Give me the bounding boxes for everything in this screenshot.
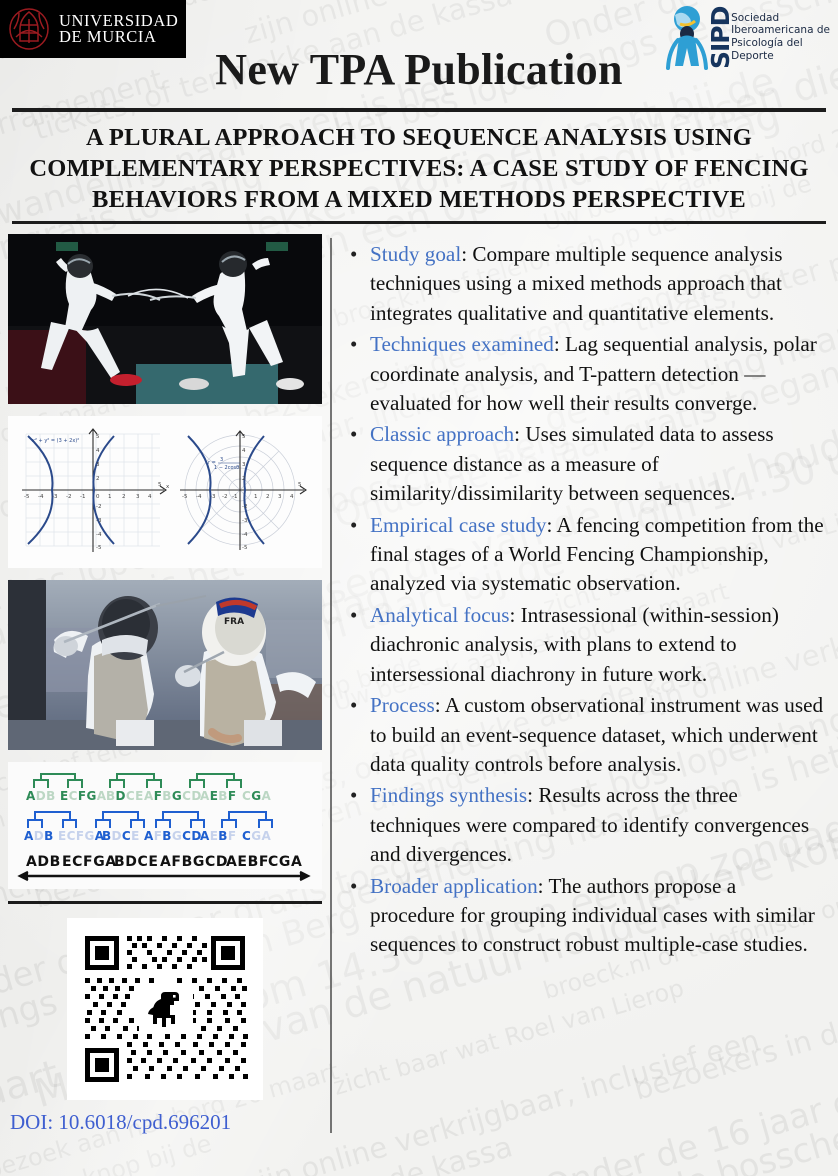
svg-text:1 − 2cosθ: 1 − 2cosθ bbox=[214, 465, 239, 471]
tpattern-diagram: ADB ECFGA BDCE AFBGCD AEBF CGA bbox=[8, 762, 322, 889]
svg-text:-1: -1 bbox=[80, 494, 85, 500]
universidad-logo-text: UNIVERSIDAD DE MURCIA bbox=[59, 13, 178, 46]
key-point-lead: Findings synthesis bbox=[370, 783, 527, 807]
svg-text:AEBF: AEBF bbox=[200, 829, 236, 843]
key-point-item: Findings synthesis: Results across the t… bbox=[348, 781, 826, 869]
svg-text:2: 2 bbox=[242, 476, 246, 482]
svg-text:-3: -3 bbox=[242, 518, 248, 524]
svg-text:4: 4 bbox=[96, 448, 100, 454]
qr-code[interactable] bbox=[67, 918, 263, 1100]
svg-text:AEBF: AEBF bbox=[200, 789, 236, 803]
svg-text:3: 3 bbox=[242, 462, 246, 468]
svg-text:-5: -5 bbox=[96, 545, 102, 551]
svg-text:2: 2 bbox=[96, 476, 100, 482]
svg-text:3: 3 bbox=[220, 457, 223, 463]
svg-text:3: 3 bbox=[136, 494, 140, 500]
key-point-text: : A custom observational instrument was … bbox=[370, 693, 823, 776]
title-rule-bottom bbox=[12, 221, 826, 224]
svg-text:4: 4 bbox=[290, 494, 294, 500]
svg-text:1: 1 bbox=[254, 494, 258, 500]
doi-link[interactable]: DOI: 10.6018/cpd.696201 bbox=[10, 1110, 330, 1135]
key-points-list: Study goal: Compare multiple sequence an… bbox=[348, 240, 826, 960]
key-point-item: Broader application: The authors propose… bbox=[348, 872, 826, 960]
dinosaur-icon bbox=[139, 986, 193, 1032]
svg-text:-5: -5 bbox=[242, 545, 248, 551]
column-divider bbox=[330, 238, 332, 1133]
svg-text:ADB: ADB bbox=[26, 789, 56, 803]
publication-title: A PLURAL APPROACH TO SEQUENCE ANALYSIS U… bbox=[22, 122, 816, 215]
svg-text:5: 5 bbox=[242, 434, 246, 440]
svg-text:CGA: CGA bbox=[242, 829, 271, 843]
svg-text:-3: -3 bbox=[210, 494, 216, 500]
svg-text:3: 3 bbox=[278, 494, 282, 500]
svg-text:4: 4 bbox=[148, 494, 152, 500]
svg-text:2: 2 bbox=[122, 494, 126, 500]
key-point-item: Process: A custom observational instrume… bbox=[348, 691, 826, 779]
svg-text:-5: -5 bbox=[24, 494, 30, 500]
key-point-lead: Process bbox=[370, 693, 435, 717]
svg-text:-1: -1 bbox=[232, 494, 237, 500]
key-point-item: Study goal: Compare multiple sequence an… bbox=[348, 240, 826, 328]
key-point-lead: Study goal bbox=[370, 242, 461, 266]
title-rule-top bbox=[12, 108, 826, 112]
key-point-item: Empirical case study: A fencing competit… bbox=[348, 511, 826, 599]
svg-text:-3: -3 bbox=[96, 518, 102, 524]
key-point-lead: Empirical case study bbox=[370, 513, 547, 537]
svg-text:5: 5 bbox=[96, 434, 100, 440]
poster-page: UNIVERSIDAD DE MURCIA SIPD Sociedad bbox=[0, 0, 838, 1176]
masthead-title: New TPA Publication bbox=[0, 44, 838, 95]
svg-text:ECFGA: ECFGA bbox=[58, 829, 105, 843]
svg-text:ADB: ADB bbox=[26, 854, 61, 870]
svg-text:AEBF: AEBF bbox=[226, 854, 269, 870]
svg-text:ECFGA: ECFGA bbox=[60, 789, 107, 803]
figure-column: x² + y² = (3 + 2x)² -5-4-3 -2-10 123 45 … bbox=[0, 234, 330, 1135]
svg-text:-4: -4 bbox=[242, 532, 248, 538]
svg-text:2: 2 bbox=[266, 494, 270, 500]
summary-column: Study goal: Compare multiple sequence an… bbox=[332, 234, 838, 1135]
svg-text:-4: -4 bbox=[196, 494, 202, 500]
sipd-name-line-1: Sociedad bbox=[731, 12, 830, 25]
svg-text:-3: -3 bbox=[52, 494, 58, 500]
svg-text:-2: -2 bbox=[96, 504, 101, 510]
svg-text:5: 5 bbox=[298, 482, 302, 488]
svg-text:BDCE: BDCE bbox=[102, 829, 140, 843]
svg-text:1: 1 bbox=[108, 494, 112, 500]
svg-text:ADB: ADB bbox=[24, 829, 54, 843]
svg-text:AFBGCD: AFBGCD bbox=[144, 829, 202, 843]
conic-plot-figure: x² + y² = (3 + 2x)² -5-4-3 -2-10 123 45 … bbox=[8, 416, 322, 568]
svg-text:-5: -5 bbox=[182, 494, 188, 500]
key-point-item: Analytical focus: Intrasessional (within… bbox=[348, 601, 826, 689]
svg-text:ECFGA: ECFGA bbox=[62, 854, 117, 870]
key-point-item: Techniques examined: Lag sequential anal… bbox=[348, 330, 826, 418]
svg-text:FRA: FRA bbox=[224, 617, 244, 627]
left-column-separator bbox=[8, 901, 322, 904]
poster-header: UNIVERSIDAD DE MURCIA SIPD Sociedad bbox=[0, 0, 838, 108]
svg-text:3: 3 bbox=[96, 462, 100, 468]
key-point-item: Classic approach: Uses simulated data to… bbox=[348, 420, 826, 508]
sipd-name-line-2: Iberoamericana de bbox=[731, 24, 830, 37]
svg-text:AFBGCD: AFBGCD bbox=[144, 789, 202, 803]
qr-code-block[interactable] bbox=[0, 918, 330, 1100]
key-point-lead: Broader application bbox=[370, 874, 538, 898]
svg-text:CGA: CGA bbox=[268, 854, 302, 870]
svg-text:-2: -2 bbox=[242, 504, 247, 510]
key-point-lead: Techniques examined bbox=[370, 332, 554, 356]
svg-text:BDCE: BDCE bbox=[114, 854, 159, 870]
fencing-photo-1 bbox=[8, 234, 322, 404]
svg-text:-4: -4 bbox=[96, 532, 102, 538]
svg-text:-2: -2 bbox=[66, 494, 71, 500]
poster-body: x² + y² = (3 + 2x)² -5-4-3 -2-10 123 45 … bbox=[0, 234, 838, 1135]
svg-text:4: 4 bbox=[242, 448, 246, 454]
svg-text:x² + y² = (3 + 2x)²: x² + y² = (3 + 2x)² bbox=[32, 438, 79, 444]
key-point-lead: Analytical focus bbox=[370, 603, 509, 627]
svg-text:AFBGCD: AFBGCD bbox=[160, 854, 228, 870]
svg-text:-4: -4 bbox=[38, 494, 44, 500]
fencing-photo-2: FRA bbox=[8, 580, 322, 750]
svg-text:BDCE: BDCE bbox=[106, 789, 144, 803]
svg-text:0: 0 bbox=[96, 494, 100, 500]
svg-text:-2: -2 bbox=[222, 494, 227, 500]
svg-text:5: 5 bbox=[158, 482, 162, 488]
svg-text:CGA: CGA bbox=[242, 789, 271, 803]
key-point-lead: Classic approach bbox=[370, 422, 514, 446]
